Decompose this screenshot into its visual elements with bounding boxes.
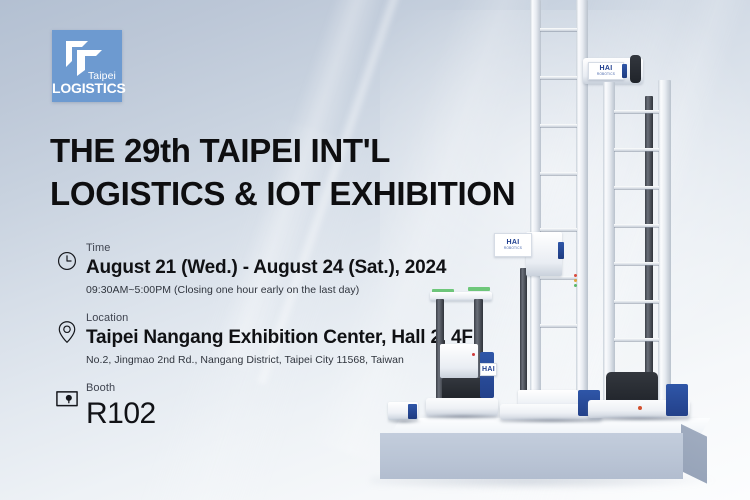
robot1-hai-main: HAI bbox=[482, 366, 495, 373]
booth-value: R102 bbox=[86, 397, 156, 431]
robot3-head-arm bbox=[630, 55, 641, 83]
robot3-mast-dark-rail bbox=[645, 96, 653, 396]
robot3-mast-right bbox=[658, 80, 671, 414]
robot1-indicator-light bbox=[472, 353, 475, 356]
robot3-head-stripe bbox=[622, 64, 627, 78]
robot3-rung bbox=[614, 148, 659, 151]
robot3-rung bbox=[614, 338, 659, 341]
robot2-indicator-light-green bbox=[574, 284, 577, 287]
logo-logistics-text: LOGISTICS bbox=[52, 80, 122, 96]
robot2-rung bbox=[540, 276, 577, 279]
exhibition-poster: Taipei LOGISTICS THE 29th TAIPEI INT'L L… bbox=[0, 0, 750, 500]
booth-floorplan-icon bbox=[50, 382, 84, 412]
robot2-indicator-light-red bbox=[574, 274, 577, 277]
podium-front bbox=[380, 433, 683, 479]
robot3-base-accent bbox=[666, 384, 688, 416]
robot3-mast-left bbox=[603, 82, 615, 418]
robot3-indicator-light bbox=[638, 406, 642, 410]
robot3-rung bbox=[614, 224, 659, 227]
robot2-rung bbox=[540, 324, 577, 327]
robot-small-agv-stripe bbox=[408, 404, 417, 419]
taipei-logistics-logo: Taipei LOGISTICS bbox=[52, 30, 122, 102]
booth-label: Booth bbox=[86, 382, 156, 396]
info-row-time: Time August 21 (Wed.) - August 24 (Sat.)… bbox=[50, 242, 446, 298]
robot2-rung bbox=[540, 28, 577, 31]
map-pin-icon bbox=[50, 312, 84, 344]
robot2-hai-sub: ROBOTICS bbox=[504, 247, 522, 250]
robot3-rung bbox=[614, 186, 659, 189]
robot2-inner-dark-rail bbox=[520, 268, 527, 398]
robot3-rung bbox=[614, 110, 659, 113]
robot2-hai-badge: HAI ROBOTICS bbox=[494, 233, 532, 257]
robot1-hai-badge: HAI bbox=[480, 363, 497, 376]
robot3-hai-badge: HAI ROBOTICS bbox=[588, 62, 624, 80]
robot-small-agv-shadow bbox=[386, 419, 422, 424]
robot2-mast-left bbox=[530, 0, 541, 414]
info-body-booth: Booth R102 bbox=[84, 382, 156, 430]
robot2-hai-main: HAI bbox=[507, 239, 520, 246]
robot3-wheel-shadow bbox=[582, 416, 698, 421]
robot2-rung bbox=[540, 124, 577, 127]
robot2-rung bbox=[540, 76, 577, 79]
robot1-green-cap-right bbox=[468, 287, 490, 291]
robot3-rung bbox=[614, 262, 659, 265]
robot2-indicator-light-amber bbox=[574, 279, 577, 282]
robot2-rung bbox=[540, 228, 577, 231]
robot3-hai-sub: ROBOTICS bbox=[597, 73, 615, 76]
robot1-fork-unit bbox=[442, 378, 484, 400]
robot1-lift-carriage bbox=[440, 344, 478, 378]
clock-icon bbox=[50, 242, 84, 272]
product-photo-robots: HAI HAI ROBOTICS HAI ROBOTICS bbox=[390, 0, 750, 500]
robot2-blue-stripe bbox=[558, 242, 564, 259]
robot3-hai-main: HAI bbox=[600, 65, 613, 72]
robot2-rung bbox=[540, 172, 577, 175]
info-row-booth: Booth R102 bbox=[50, 382, 156, 430]
robot3-rung bbox=[614, 300, 659, 303]
